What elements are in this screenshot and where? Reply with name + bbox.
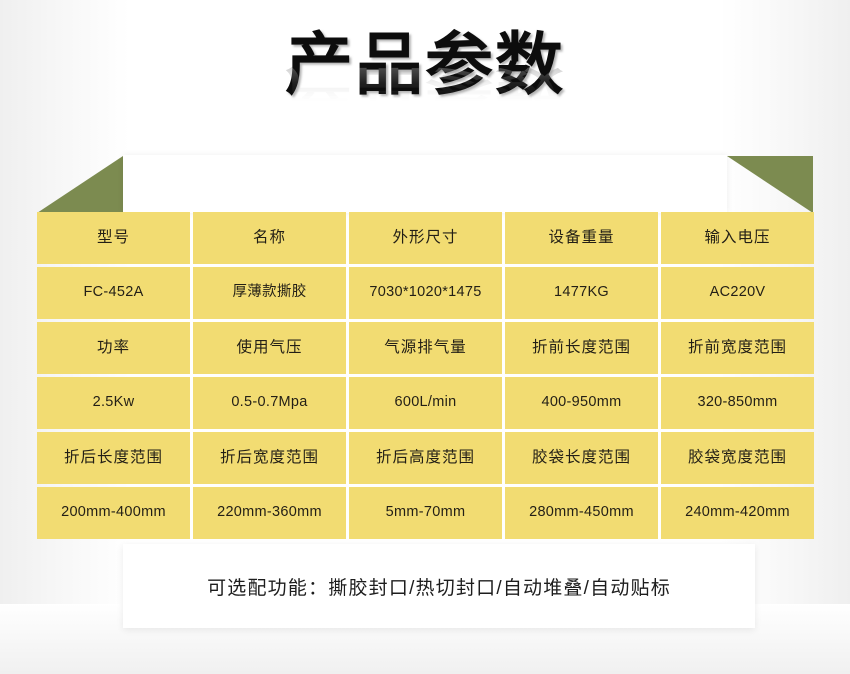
table-row: 2.5Kw 0.5-0.7Mpa 600L/min 400-950mm 320-… (37, 377, 814, 429)
spec-value-cell: 5mm-70mm (349, 487, 502, 539)
product-spec-page: 产品参数 产品参数 型号 名称 外形尺寸 设备重量 输入电压 FC-452A 厚… (0, 0, 850, 674)
spec-value-cell: 400-950mm (505, 377, 658, 429)
spec-value-cell: 厚薄款撕胶 (193, 267, 346, 319)
spec-value-cell: 220mm-360mm (193, 487, 346, 539)
spec-value-cell: FC-452A (37, 267, 190, 319)
table-row: 折后长度范围 折后宽度范围 折后高度范围 胶袋长度范围 胶袋宽度范围 (37, 432, 814, 484)
spec-value-cell: 1477KG (505, 267, 658, 319)
spec-header-cell: 气源排气量 (349, 322, 502, 374)
spec-value-cell: 600L/min (349, 377, 502, 429)
ribbon-tail-left-icon (37, 156, 123, 213)
spec-value-cell: 320-850mm (661, 377, 814, 429)
spec-header-cell: 折后高度范围 (349, 432, 502, 484)
table-row: FC-452A 厚薄款撕胶 7030*1020*1475 1477KG AC22… (37, 267, 814, 319)
spec-value-cell: 0.5-0.7Mpa (193, 377, 346, 429)
spec-header-cell: 名称 (193, 212, 346, 264)
ribbon-tail-right-icon (727, 156, 813, 213)
spec-value-cell: AC220V (661, 267, 814, 319)
spec-header-cell: 使用气压 (193, 322, 346, 374)
spec-header-cell: 胶袋宽度范围 (661, 432, 814, 484)
page-title-reflection: 产品参数 (0, 63, 850, 108)
optional-functions-note: 可选配功能：撕胶封口/热切封口/自动堆叠/自动贴标 (207, 573, 671, 600)
spec-value-cell: 240mm-420mm (661, 487, 814, 539)
table-row: 功率 使用气压 气源排气量 折前长度范围 折前宽度范围 (37, 322, 814, 374)
spec-value-cell: 200mm-400mm (37, 487, 190, 539)
spec-header-cell: 折前长度范围 (505, 322, 658, 374)
spec-header-cell: 输入电压 (661, 212, 814, 264)
ribbon-banner (123, 155, 727, 213)
spec-header-cell: 型号 (37, 212, 190, 264)
spec-header-cell: 折前宽度范围 (661, 322, 814, 374)
spec-header-cell: 设备重量 (505, 212, 658, 264)
spec-value-cell: 280mm-450mm (505, 487, 658, 539)
spec-header-cell: 折后宽度范围 (193, 432, 346, 484)
page-title-block: 产品参数 产品参数 (0, 26, 850, 156)
footer-panel: 可选配功能：撕胶封口/热切封口/自动堆叠/自动贴标 (123, 544, 755, 628)
spec-value-cell: 7030*1020*1475 (349, 267, 502, 319)
table-row: 200mm-400mm 220mm-360mm 5mm-70mm 280mm-4… (37, 487, 814, 539)
spec-value-cell: 2.5Kw (37, 377, 190, 429)
spec-header-cell: 外形尺寸 (349, 212, 502, 264)
table-row: 型号 名称 外形尺寸 设备重量 输入电压 (37, 212, 814, 264)
spec-header-cell: 胶袋长度范围 (505, 432, 658, 484)
spec-table: 型号 名称 外形尺寸 设备重量 输入电压 FC-452A 厚薄款撕胶 7030*… (37, 212, 814, 539)
spec-header-cell: 折后长度范围 (37, 432, 190, 484)
spec-header-cell: 功率 (37, 322, 190, 374)
